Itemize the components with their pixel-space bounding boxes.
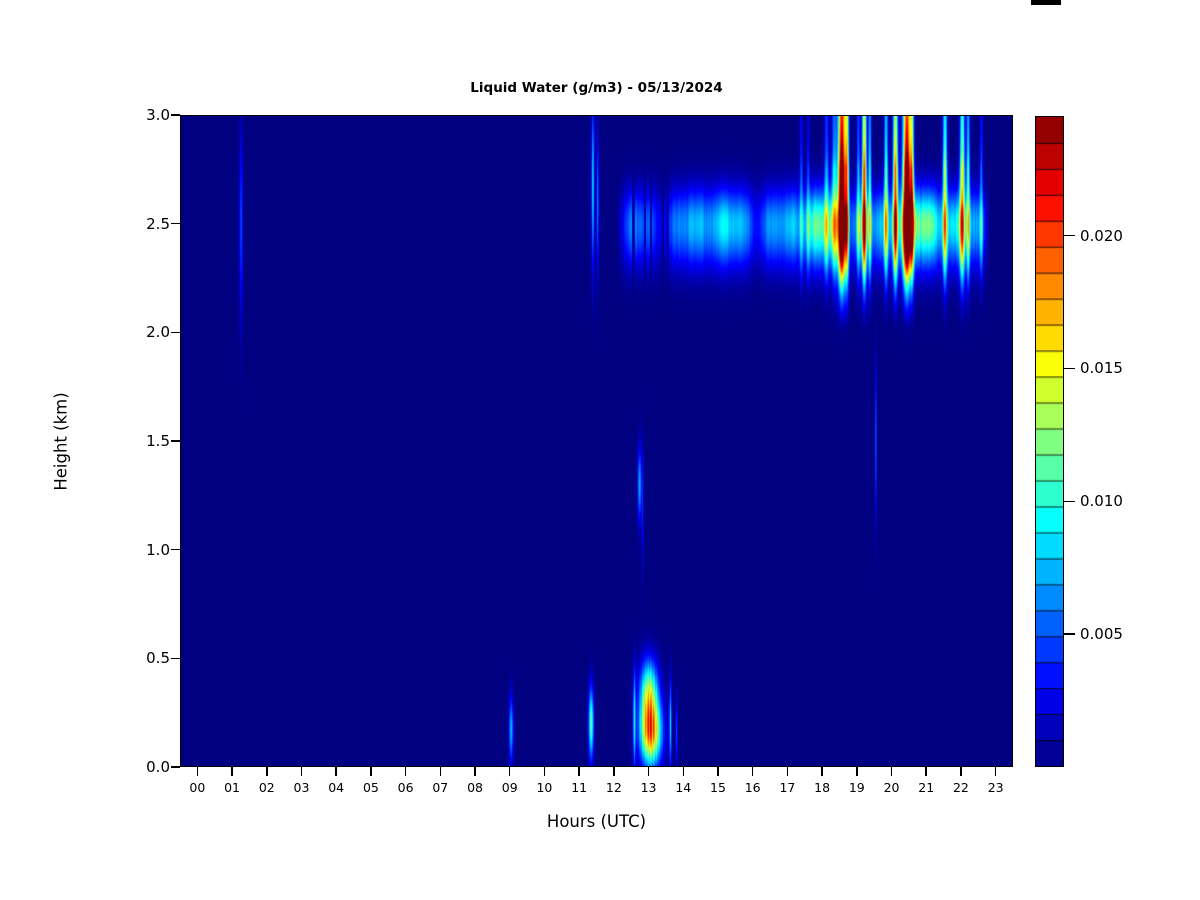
x-tick-mark [856,767,858,776]
x-axis-label: Hours (UTC) [180,812,1013,831]
x-tick-mark [266,767,268,776]
x-tick-label: 08 [460,780,490,795]
x-tick-mark [370,767,372,776]
x-tick-mark [197,767,199,776]
colorbar [1035,116,1064,767]
y-tick-mark [171,114,180,116]
x-tick-label: 14 [668,780,698,795]
x-tick-mark [925,767,927,776]
colorbar-tick-label: 0.010 [1080,492,1123,510]
y-tick-label: 0.5 [110,649,170,667]
x-tick-mark [474,767,476,776]
colorbar-tick-label: 0.005 [1080,625,1123,643]
colorbar-tick-mark [1064,633,1075,635]
x-tick-mark [509,767,511,776]
x-tick-mark [787,767,789,776]
x-tick-label: 13 [634,780,664,795]
x-tick-mark [231,767,233,776]
x-tick-label: 23 [981,780,1011,795]
x-tick-label: 04 [321,780,351,795]
x-tick-label: 07 [425,780,455,795]
x-tick-mark [648,767,650,776]
y-tick-mark [171,549,180,551]
y-tick-mark [171,440,180,442]
heatmap-plot-area [180,115,1013,767]
y-tick-label: 2.0 [110,323,170,341]
x-tick-label: 03 [286,780,316,795]
colorbar-tick-label: 0.020 [1080,227,1123,245]
x-tick-label: 00 [182,780,212,795]
x-tick-label: 16 [738,780,768,795]
x-tick-label: 10 [529,780,559,795]
y-axis-label: Height (km) [52,362,71,522]
x-tick-label: 12 [599,780,629,795]
y-tick-mark [171,658,180,660]
x-tick-mark [301,767,303,776]
y-tick-label: 2.5 [110,215,170,233]
colorbar-gradient [1035,116,1064,767]
x-tick-mark [440,767,442,776]
x-tick-label: 21 [911,780,941,795]
x-tick-mark [821,767,823,776]
x-tick-label: 09 [495,780,525,795]
figure-canvas: Liquid Water (g/m3) - 05/13/2024 0.00.51… [0,0,1200,900]
y-tick-mark [171,223,180,225]
x-tick-mark [683,767,685,776]
x-tick-label: 22 [946,780,976,795]
y-tick-label: 1.5 [110,432,170,450]
page-title: Liquid Water (g/m3) - 05/13/2024 [180,80,1013,96]
x-tick-mark [717,767,719,776]
colorbar-tick-mark [1064,368,1075,370]
x-tick-label: 19 [842,780,872,795]
x-tick-label: 11 [564,780,594,795]
x-tick-label: 05 [356,780,386,795]
x-tick-mark [405,767,407,776]
x-tick-mark [752,767,754,776]
colorbar-tick-mark [1064,501,1075,503]
x-tick-mark [960,767,962,776]
x-tick-mark [613,767,615,776]
x-tick-label: 17 [772,780,802,795]
x-tick-mark [995,767,997,776]
x-tick-mark [891,767,893,776]
x-tick-label: 15 [703,780,733,795]
y-tick-label: 0.0 [110,758,170,776]
x-tick-label: 18 [807,780,837,795]
x-tick-label: 02 [252,780,282,795]
clipped-colorbar-artifact [1031,0,1061,5]
x-tick-label: 06 [391,780,421,795]
colorbar-tick-mark [1064,235,1075,237]
y-tick-mark [171,332,180,334]
y-tick-label: 3.0 [110,106,170,124]
x-tick-label: 20 [877,780,907,795]
heatmap-image [181,116,1012,766]
x-tick-mark [544,767,546,776]
x-tick-label: 01 [217,780,247,795]
x-tick-mark [335,767,337,776]
y-tick-mark [171,766,180,768]
x-tick-mark [578,767,580,776]
y-tick-label: 1.0 [110,541,170,559]
colorbar-tick-label: 0.015 [1080,359,1123,377]
